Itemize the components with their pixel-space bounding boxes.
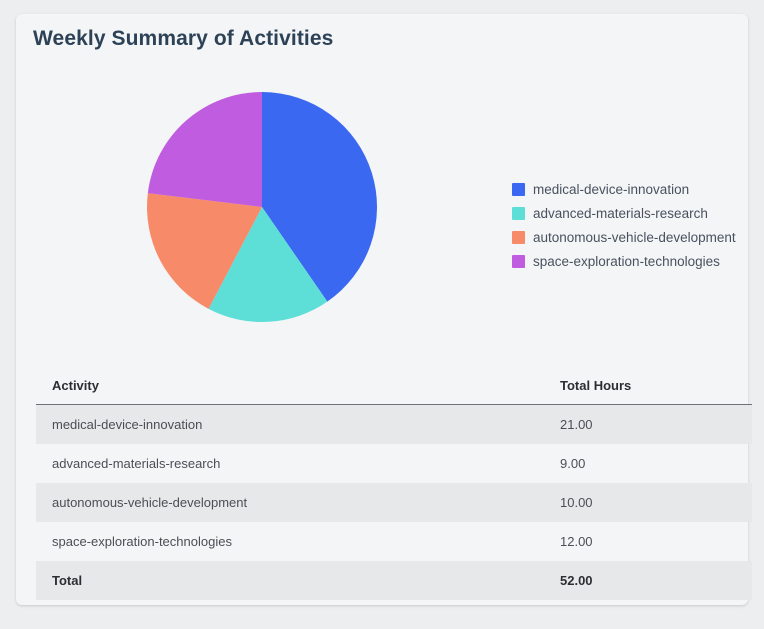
cell-total-hours: 9.00: [544, 444, 752, 483]
cell-activity: autonomous-vehicle-development: [36, 483, 544, 522]
legend-item-label: space-exploration-technologies: [533, 254, 720, 269]
cell-total-hours: 10.00: [544, 483, 752, 522]
cell-total-label: Total: [36, 561, 544, 600]
cell-total-hours: 21.00: [544, 405, 752, 445]
cell-total-hours: 52.00: [544, 561, 752, 600]
legend-item[interactable]: autonomous-vehicle-development: [512, 228, 736, 246]
legend-item[interactable]: advanced-materials-research: [512, 204, 736, 222]
table-row: medical-device-innovation21.00: [36, 405, 752, 445]
chart-area: medical-device-innovationadvanced-materi…: [16, 76, 748, 356]
column-header-activity: Activity: [36, 366, 544, 405]
legend-color-swatch: [512, 255, 525, 268]
table-total-row: Total52.00: [36, 561, 752, 600]
legend-item-label: medical-device-innovation: [533, 182, 689, 197]
pie-chart: [147, 92, 377, 322]
table-header-row: Activity Total Hours: [36, 366, 752, 405]
page-title: Weekly Summary of Activities: [33, 27, 333, 51]
pie-slices: [147, 92, 377, 322]
table-row: autonomous-vehicle-development10.00: [36, 483, 752, 522]
summary-table: Activity Total Hours medical-device-inno…: [36, 366, 752, 600]
pie-slice[interactable]: [148, 92, 262, 207]
pie-chart-svg: [147, 92, 377, 322]
cell-activity: medical-device-innovation: [36, 405, 544, 445]
chart-legend: medical-device-innovationadvanced-materi…: [512, 180, 736, 270]
legend-item-label: advanced-materials-research: [533, 206, 708, 221]
table-body: medical-device-innovation21.00advanced-m…: [36, 405, 752, 601]
table-row: space-exploration-technologies12.00: [36, 522, 752, 561]
legend-item[interactable]: medical-device-innovation: [512, 180, 736, 198]
column-header-total-hours: Total Hours: [544, 366, 752, 405]
legend-color-swatch: [512, 231, 525, 244]
legend-color-swatch: [512, 183, 525, 196]
summary-table-wrap: Activity Total Hours medical-device-inno…: [36, 366, 752, 600]
cell-total-hours: 12.00: [544, 522, 752, 561]
legend-item-label: autonomous-vehicle-development: [533, 230, 736, 245]
summary-card: Weekly Summary of Activities medical-dev…: [16, 14, 748, 605]
cell-activity: space-exploration-technologies: [36, 522, 544, 561]
legend-color-swatch: [512, 207, 525, 220]
table-header: Activity Total Hours: [36, 366, 752, 405]
cell-activity: advanced-materials-research: [36, 444, 544, 483]
table-row: advanced-materials-research9.00: [36, 444, 752, 483]
legend-item[interactable]: space-exploration-technologies: [512, 252, 736, 270]
